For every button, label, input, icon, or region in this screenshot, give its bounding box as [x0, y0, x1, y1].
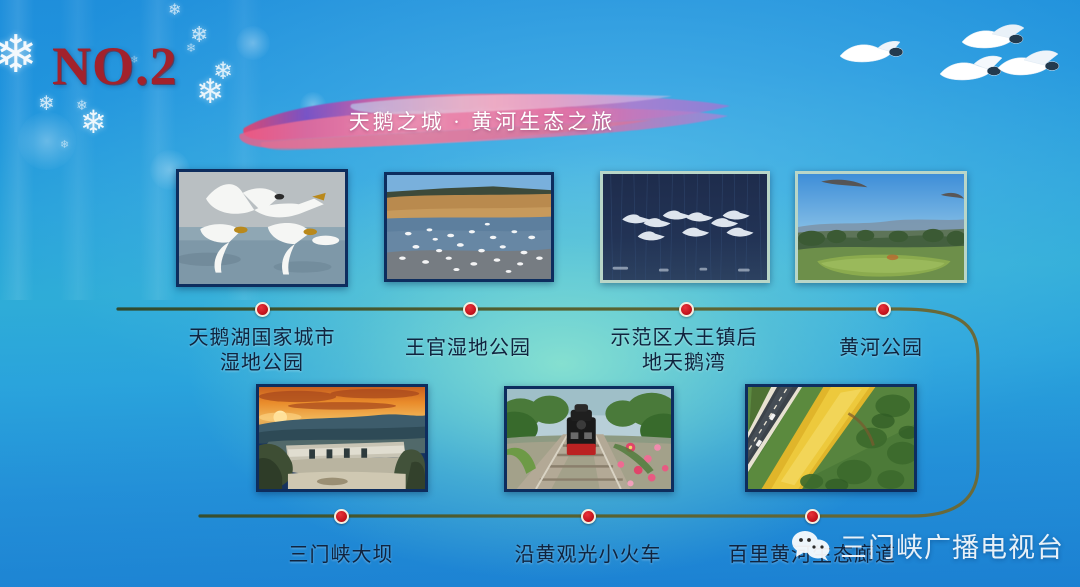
- snowflake-icon: ❄: [213, 60, 233, 84]
- route-stop-label: 三门峡大坝: [251, 543, 431, 568]
- aerial-road-yellow-flowers-image: [748, 387, 914, 489]
- photo-thumbnail[interactable]: [795, 171, 967, 283]
- snowflake-icon: ❄: [186, 42, 196, 54]
- route-stop-dot[interactable]: [679, 302, 694, 317]
- route-stop-dot[interactable]: [805, 509, 820, 524]
- snowflake-icon: ❄: [38, 94, 55, 114]
- photo-thumbnail[interactable]: [745, 384, 917, 492]
- snowflake-icon: ❄: [80, 106, 107, 138]
- route-stop-dot[interactable]: [581, 509, 596, 524]
- route-stop-label: 沿黄观光小火车: [478, 543, 698, 568]
- flying-swans-graphic: [820, 18, 1080, 128]
- photo-thumbnail[interactable]: [504, 386, 674, 492]
- route-stop-dot[interactable]: [334, 509, 349, 524]
- bokeh-circle: [18, 112, 76, 170]
- route-stop-label: 黄河公园: [801, 336, 961, 361]
- tourist-steam-train-image: [507, 389, 671, 489]
- bokeh-circle: [236, 26, 270, 60]
- photo-thumbnail[interactable]: [176, 169, 348, 287]
- route-stop-dot[interactable]: [463, 302, 478, 317]
- photo-thumbnail[interactable]: [384, 172, 554, 282]
- rank-badge: NO.2: [52, 35, 178, 97]
- route-stop-label: 天鹅湖国家城市 湿地公园: [142, 326, 382, 376]
- snowflake-icon: ❄: [190, 24, 208, 46]
- snowflake-icon: ❄: [196, 76, 225, 110]
- route-stop-label: 百里黄河生态廊道: [692, 543, 932, 568]
- route-stop-dot[interactable]: [255, 302, 270, 317]
- snowflake-icon: ❄: [168, 3, 181, 19]
- poster-root: ❄ ❄ ❄ ❄ ❄ ❄ ❄ ❄ ❄ ❄ ❄ NO.2: [0, 0, 1080, 587]
- photo-thumbnail[interactable]: [256, 384, 428, 492]
- wetland-with-birds-image: [387, 175, 551, 279]
- poster-title: 天鹅之城 · 黄河生态之旅: [232, 106, 732, 136]
- snowflake-icon: ❄: [0, 30, 38, 82]
- dam-at-sunset-image: [259, 387, 425, 489]
- route-stop-label: 示范区大王镇后 地天鹅湾: [564, 326, 804, 376]
- route-stop-dot[interactable]: [876, 302, 891, 317]
- title-banner: 天鹅之城 · 黄河生态之旅: [232, 84, 732, 160]
- snowflake-icon: ❄: [60, 140, 69, 151]
- snowflake-icon: ❄: [76, 100, 88, 114]
- park-lawn-blue-sky-image: [798, 174, 964, 280]
- swans-taking-off-image: [179, 172, 345, 284]
- route-stop-label: 王官湿地公园: [368, 336, 568, 361]
- photo-thumbnail[interactable]: [600, 171, 770, 283]
- swans-flying-dark-water-image: [603, 174, 767, 280]
